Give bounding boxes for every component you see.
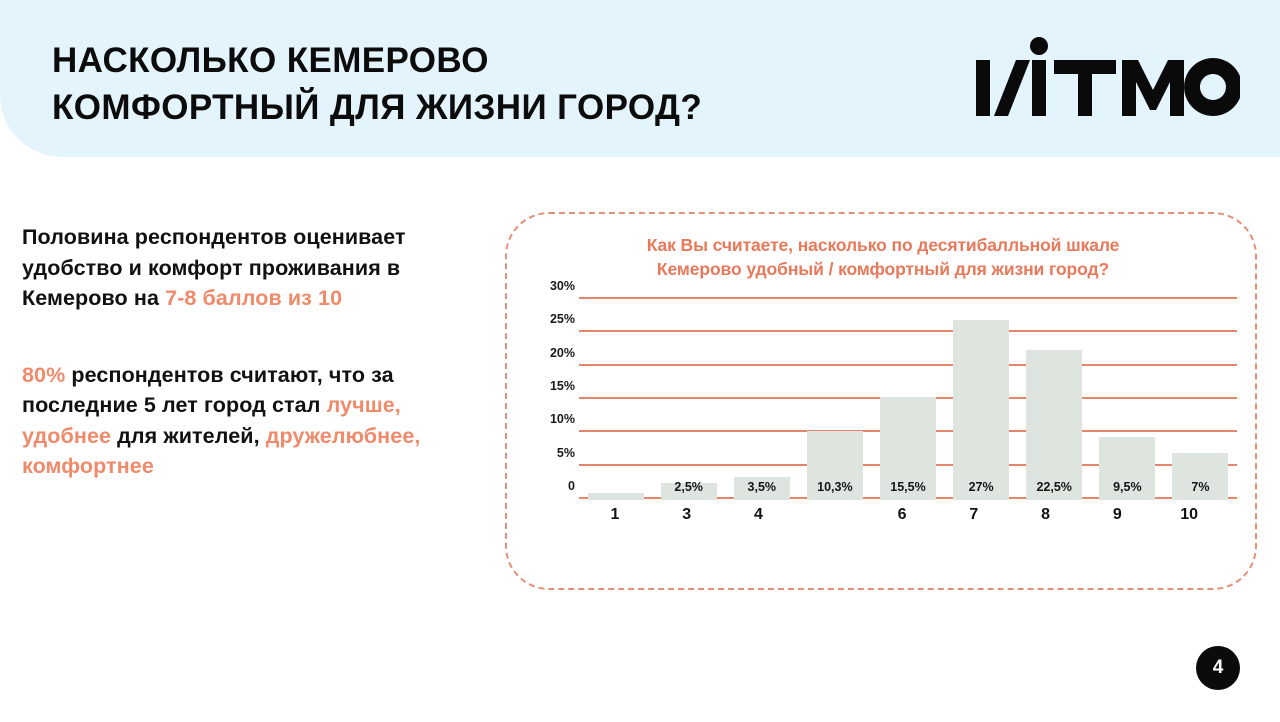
y-axis-tick: 15% — [550, 379, 575, 393]
page-title: НАСКОЛЬКО КЕМЕРОВО КОМФОРТНЫЙ ДЛЯ ЖИЗНИ … — [52, 38, 932, 131]
chart-bars: 2,5%3,5%10,3%15,5%27%22,5%9,5%7% — [579, 300, 1237, 500]
y-axis-tick: 0 — [568, 479, 575, 493]
chart-bar[interactable]: 2,5% — [661, 483, 717, 500]
bar-slot: 2,5% — [652, 300, 725, 500]
bar-slot: 7% — [1164, 300, 1237, 500]
chart-bar[interactable]: 3,5% — [734, 477, 790, 500]
x-axis-tick: 6 — [866, 506, 938, 524]
x-axis-tick: 8 — [1010, 506, 1082, 524]
x-axis-tick: 9 — [1081, 506, 1153, 524]
paragraph-rating-accent: 7-8 баллов из 10 — [165, 286, 342, 310]
y-axis-tick: 20% — [550, 346, 575, 360]
chart-bar[interactable]: 27% — [953, 320, 1009, 500]
chart-plot-area: 05%10%15%20%25%30% 2,5%3,5%10,3%15,5%27%… — [537, 300, 1237, 500]
bar-value-label: 15,5% — [890, 480, 925, 494]
bar-slot: 22,5% — [1018, 300, 1091, 500]
chart-bar[interactable]: 9,5% — [1099, 437, 1155, 500]
y-axis: 05%10%15%20%25%30% — [537, 300, 579, 500]
x-axis-tick — [794, 506, 866, 524]
bar-value-label: 7% — [1191, 480, 1209, 494]
bar-value-label: 9,5% — [1113, 480, 1142, 494]
page-number-badge: 4 — [1196, 646, 1240, 690]
page-title-line-1: НАСКОЛЬКО КЕМЕРОВО — [52, 41, 489, 80]
x-axis-tick: 10 — [1153, 506, 1225, 524]
chart-title-line-1: Как Вы считаете, насколько по десятибалл… — [647, 235, 1120, 255]
bar-value-label: 3,5% — [748, 480, 777, 494]
gridline — [579, 297, 1237, 299]
x-axis-tick: 3 — [651, 506, 723, 524]
bar-slot — [579, 300, 652, 500]
bar-value-label: 22,5% — [1036, 480, 1071, 494]
y-axis-tick: 5% — [557, 446, 575, 460]
chart-title: Как Вы считаете, насколько по десятибалл… — [533, 234, 1233, 281]
bar-value-label: 2,5% — [674, 480, 703, 494]
x-axis-tick: 4 — [723, 506, 795, 524]
paragraph-improvement: 80% респондентов считают, что за последн… — [22, 360, 482, 482]
chart-panel: Как Вы считаете, насколько по десятибалл… — [505, 212, 1257, 590]
improvement-percent: 80% — [22, 363, 65, 387]
chart-bar[interactable]: 22,5% — [1026, 350, 1082, 500]
bar-value-label: 10,3% — [817, 480, 852, 494]
chart-bar[interactable]: 10,3% — [807, 431, 863, 500]
left-text-column: Половина респондентов оценивает удобство… — [22, 222, 482, 482]
bar-slot: 9,5% — [1091, 300, 1164, 500]
chart-bar[interactable]: 7% — [1172, 453, 1228, 500]
x-axis-tick: 7 — [938, 506, 1010, 524]
x-axis: 134678910 — [579, 506, 1225, 524]
paragraph-rating: Половина респондентов оценивает удобство… — [22, 222, 482, 314]
bar-slot: 3,5% — [725, 300, 798, 500]
bar-slot: 27% — [945, 300, 1018, 500]
itmo-logo — [970, 28, 1240, 128]
page-title-line-2: КОМФОРТНЫЙ ДЛЯ ЖИЗНИ ГОРОД? — [52, 85, 932, 132]
x-axis-tick: 1 — [579, 506, 651, 524]
slide-root: НАСКОЛЬКО КЕМЕРОВО КОМФОРТНЫЙ ДЛЯ ЖИЗНИ … — [0, 0, 1280, 722]
bar-slot: 10,3% — [798, 300, 871, 500]
bar-value-label: 27% — [969, 480, 994, 494]
chart-title-line-2: Кемерово удобный / комфортный для жизни … — [533, 258, 1233, 282]
header-band: НАСКОЛЬКО КЕМЕРОВО КОМФОРТНЫЙ ДЛЯ ЖИЗНИ … — [0, 0, 1280, 157]
y-axis-tick: 10% — [550, 412, 575, 426]
y-axis-tick: 25% — [550, 312, 575, 326]
chart-bar[interactable]: 15,5% — [880, 397, 936, 500]
chart-bar[interactable] — [588, 493, 644, 500]
bar-slot: 15,5% — [871, 300, 944, 500]
improvement-text-2: для жителей, — [111, 424, 266, 448]
y-axis-tick: 30% — [550, 279, 575, 293]
